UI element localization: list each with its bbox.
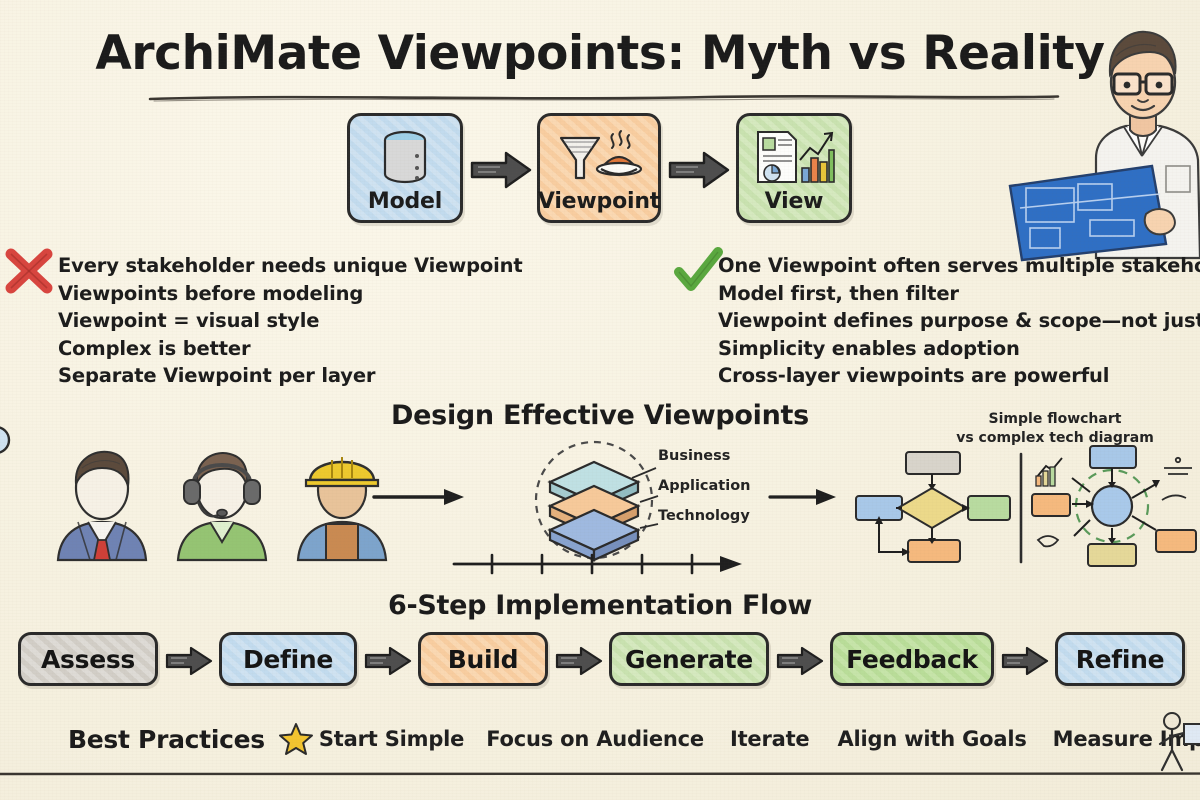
step-assess[interactable]: Assess	[18, 632, 158, 686]
star-icon	[279, 722, 313, 756]
block-arrow-icon	[668, 150, 730, 190]
myth-item: Viewpoint = visual style	[58, 307, 523, 335]
small-person-figure	[1158, 710, 1200, 772]
layer-label-business: Business	[658, 448, 730, 464]
reality-list: One Viewpoint often serves multiple stak…	[718, 252, 1200, 390]
pipeline-stage-label: Model	[368, 189, 442, 214]
block-arrow-icon	[1001, 646, 1049, 676]
myth-item: Separate Viewpoint per layer	[58, 362, 523, 390]
myth-item: Complex is better	[58, 335, 523, 363]
complex-tech-diagram	[1032, 444, 1200, 570]
layer-label-technology: Technology	[658, 508, 750, 524]
comparison-caption: Simple flowchart vs complex tech diagram	[940, 410, 1170, 448]
simple-flowchart	[852, 448, 1012, 566]
step-build[interactable]: Build	[418, 632, 548, 686]
best-practice-item: Focus on Audience	[486, 727, 704, 751]
red-x-icon	[4, 248, 54, 294]
layer-stack-diagram	[528, 436, 668, 566]
page-title: ArchiMate Viewpoints: Myth vs Reality	[0, 26, 1200, 81]
pipeline-stage-view[interactable]: View	[736, 113, 852, 223]
best-practice-item: Align with Goals	[837, 727, 1026, 751]
arrow-right-icon	[372, 484, 468, 510]
arrow-right-icon	[768, 484, 840, 510]
layer-label-application: Application	[658, 478, 751, 494]
cut-circle-decoration	[0, 420, 22, 460]
block-arrow-icon	[470, 150, 532, 190]
implementation-steps: Assess Define Build Generate Feedback Re…	[0, 632, 1200, 702]
step-generate[interactable]: Generate	[609, 632, 769, 686]
reality-item: Cross-layer viewpoints are powerful	[718, 362, 1200, 390]
infographic-canvas: ArchiMate Viewpoints: Myth vs Reality	[0, 0, 1200, 800]
tick-axis-arrow-icon	[450, 548, 750, 578]
pipeline-stage-label: View	[765, 189, 824, 214]
block-arrow-icon	[776, 646, 824, 676]
support-agent-avatar	[168, 442, 276, 560]
best-practice-item: Iterate	[730, 727, 810, 751]
block-arrow-icon	[555, 646, 603, 676]
step-refine[interactable]: Refine	[1055, 632, 1185, 686]
green-check-icon	[676, 250, 722, 294]
myth-item: Every stakeholder needs unique Viewpoint	[58, 252, 523, 280]
comparison-caption-line1: Simple flowchart	[940, 410, 1170, 429]
pipeline-stage-label: Viewpoint	[538, 189, 660, 214]
myth-list: Every stakeholder needs unique Viewpoint…	[58, 252, 523, 390]
best-practices-row: Best Practices Start Simple Focus on Aud…	[0, 716, 1200, 762]
report-chart-icon	[754, 128, 834, 188]
reality-item: One Viewpoint often serves multiple stak…	[718, 252, 1200, 280]
block-arrow-icon	[364, 646, 412, 676]
myth-item: Viewpoints before modeling	[58, 280, 523, 308]
architect-with-blueprint	[1080, 8, 1200, 258]
funnel-dish-icon	[557, 128, 641, 188]
database-icon	[377, 128, 433, 186]
comparison-divider	[1018, 452, 1024, 564]
step-feedback[interactable]: Feedback	[830, 632, 994, 686]
reality-item: Viewpoint defines purpose & scope—not ju…	[718, 307, 1200, 335]
reality-item: Model first, then filter	[718, 280, 1200, 308]
pipeline-stage-viewpoint[interactable]: Viewpoint	[537, 113, 661, 223]
best-practice-item: Start Simple	[319, 727, 464, 751]
step-define[interactable]: Define	[219, 632, 357, 686]
best-practices-title: Best Practices	[68, 725, 265, 754]
block-arrow-icon	[165, 646, 213, 676]
reality-item: Simplicity enables adoption	[718, 335, 1200, 363]
bottom-border-line	[0, 772, 1200, 776]
implementation-heading: 6-Step Implementation Flow	[0, 590, 1200, 621]
business-executive-avatar	[48, 442, 156, 560]
pipeline-stage-model[interactable]: Model	[347, 113, 463, 223]
title-underline	[148, 93, 1060, 102]
